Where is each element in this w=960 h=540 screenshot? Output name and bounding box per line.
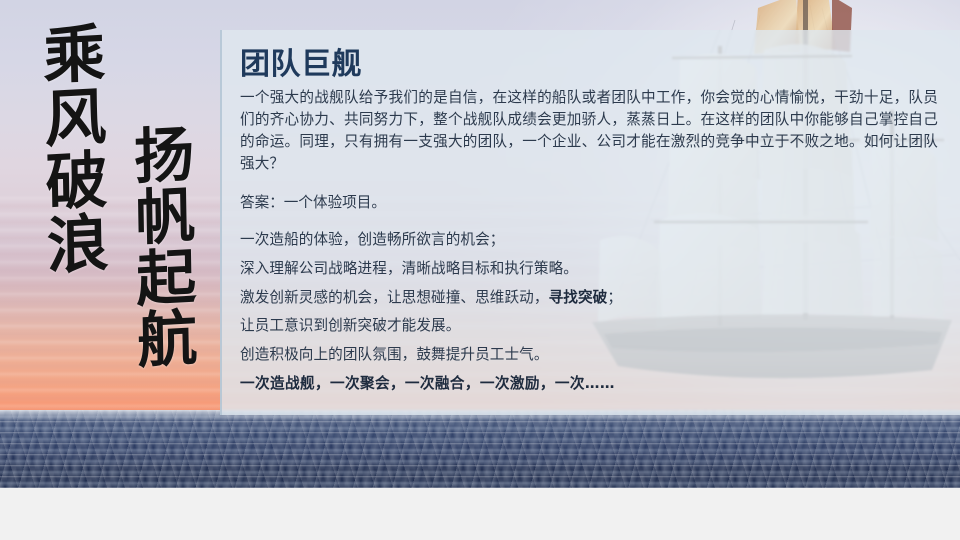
list-item-emphasis: 寻找突破 [549, 289, 608, 306]
ocean-waves [0, 410, 960, 488]
slide-viewport: 乘风破浪 扬帆起航 团队巨舰 一个强大的战舰队给予我们的是自信，在这样的船队或者… [0, 0, 960, 540]
list-item-text: 让员工意识到创新突破才能发展。 [240, 317, 460, 334]
list-item: 深入理解公司战略进程，清晰战略目标和执行策略。 [240, 259, 938, 280]
list-item-lead: 激发创新灵感的机会，让思想碰撞、思维跃动， [240, 289, 549, 306]
page-bottom-chrome [0, 488, 960, 540]
list-item-closing: 一次造战舰，一次聚会，一次融合，一次激励，一次…… [240, 374, 938, 395]
list-item-text: 深入理解公司战略进程，清晰战略目标和执行策略。 [240, 260, 578, 277]
list-item-text: 一次造战舰，一次聚会，一次融合，一次激励，一次…… [240, 375, 615, 392]
panel-title: 团队巨舰 [240, 48, 938, 83]
list-item-text: 一次造船的体验，创造畅所欲言的机会； [240, 231, 505, 248]
list-item-tail: ； [607, 289, 622, 306]
list-item: 创造积极向上的团队氛围，鼓舞提升员工士气。 [240, 345, 938, 366]
intro-paragraph: 一个强大的战舰队给予我们的是自信，在这样的船队或者团队中工作，你会觉的心情愉悦，… [240, 87, 938, 176]
content-panel: 团队巨舰 一个强大的战舰队给予我们的是自信，在这样的船队或者团队中工作，你会觉的… [220, 30, 960, 415]
benefit-list: 一次造船的体验，创造畅所欲言的机会； 深入理解公司战略进程，清晰战略目标和执行策… [240, 230, 938, 394]
list-item: 激发创新灵感的机会，让思想碰撞、思维跃动，寻找突破； [240, 288, 938, 309]
list-item: 一次造船的体验，创造畅所欲言的机会； [240, 230, 938, 251]
slide-canvas: 乘风破浪 扬帆起航 团队巨舰 一个强大的战舰队给予我们的是自信，在这样的船队或者… [0, 0, 960, 488]
list-item-text: 创造积极向上的团队氛围，鼓舞提升员工士气。 [240, 346, 549, 363]
answer-line: 答案：一个体验项目。 [240, 192, 938, 214]
list-item: 让员工意识到创新突破才能发展。 [240, 316, 938, 337]
